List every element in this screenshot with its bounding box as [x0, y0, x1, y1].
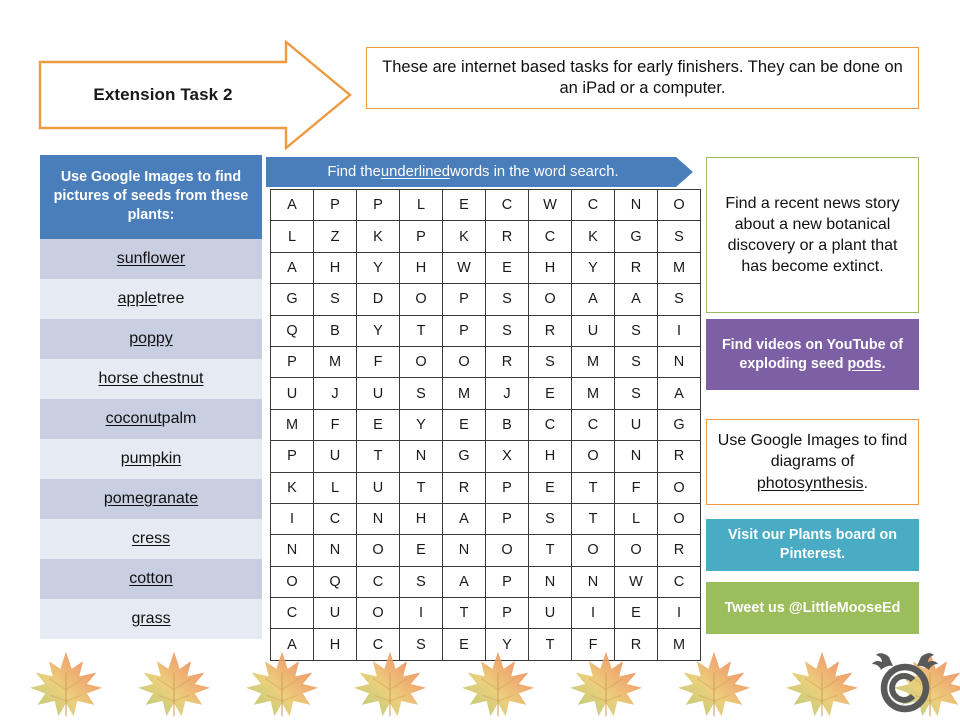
- wordsearch-cell[interactable]: R: [615, 252, 658, 283]
- wordsearch-cell[interactable]: Y: [357, 315, 400, 346]
- wordsearch-cell[interactable]: T: [400, 315, 443, 346]
- wordsearch-cell[interactable]: S: [486, 315, 529, 346]
- wordsearch-cell[interactable]: C: [314, 503, 357, 534]
- wordsearch-cell[interactable]: E: [400, 535, 443, 566]
- card-news-text: Find a recent news story about a new bot…: [715, 193, 910, 277]
- card-photosynthesis-underlined: photosynthesis: [757, 475, 864, 492]
- wordsearch-cell[interactable]: I: [271, 503, 314, 534]
- wordsearch-cell[interactable]: M: [572, 346, 615, 377]
- wordsearch-cell[interactable]: U: [271, 378, 314, 409]
- plant-name-plain: palm: [162, 410, 197, 428]
- wordsearch-cell[interactable]: O: [271, 566, 314, 597]
- page-title: Extension Task 2: [38, 40, 288, 150]
- maple-leaf-icon: [338, 648, 442, 720]
- wordsearch-cell[interactable]: R: [486, 221, 529, 252]
- wordsearch-cell[interactable]: O: [658, 472, 701, 503]
- plant-list-item[interactable]: cotton: [40, 559, 262, 599]
- wordsearch-cell[interactable]: N: [271, 535, 314, 566]
- card-youtube-suffix: .: [882, 356, 886, 372]
- wordsearch-cell[interactable]: M: [572, 378, 615, 409]
- wordsearch-cell[interactable]: N: [314, 535, 357, 566]
- slide-canvas: Extension Task 2 These are internet base…: [0, 0, 960, 720]
- wordsearch-cell[interactable]: S: [486, 284, 529, 315]
- wordsearch-cell[interactable]: K: [271, 472, 314, 503]
- wordsearch-cell[interactable]: M: [443, 378, 486, 409]
- plant-list-item[interactable]: coconut palm: [40, 399, 262, 439]
- wordsearch-cell[interactable]: Y: [400, 409, 443, 440]
- card-photosynthesis-prefix: Use Google Images to find diagrams of: [718, 432, 907, 470]
- wordsearch-cell[interactable]: U: [314, 441, 357, 472]
- wordsearch-cell[interactable]: I: [572, 598, 615, 629]
- wordsearch-cell[interactable]: O: [443, 346, 486, 377]
- wordsearch-cell[interactable]: Q: [271, 315, 314, 346]
- wordsearch-row: KLUTRPETFO: [271, 472, 701, 503]
- wordsearch-cell[interactable]: T: [572, 472, 615, 503]
- intro-text: These are internet based tasks for early…: [379, 57, 906, 100]
- plant-name-underlined: horse chestnut: [99, 370, 204, 388]
- wordsearch-grid[interactable]: APPLECWCNOLZKPKRCKGSAHYHWEHYRMGSDOPSOAAS…: [270, 189, 701, 661]
- wordsearch-cell[interactable]: U: [357, 472, 400, 503]
- plant-list-item[interactable]: sunflower: [40, 239, 262, 279]
- wordsearch-cell[interactable]: O: [572, 441, 615, 472]
- wordsearch-cell[interactable]: O: [658, 503, 701, 534]
- wordsearch-cell[interactable]: K: [572, 221, 615, 252]
- wordsearch-row: CUOITPUIEI: [271, 598, 701, 629]
- wordsearch-cell[interactable]: S: [658, 284, 701, 315]
- wordsearch-cell[interactable]: U: [572, 315, 615, 346]
- wordsearch-row: OQCSAPNNWC: [271, 566, 701, 597]
- maple-leaf-icon: [662, 648, 766, 720]
- wordsearch-cell[interactable]: W: [615, 566, 658, 597]
- wordsearch-cell[interactable]: H: [529, 441, 572, 472]
- wordsearch-row: PUTNGXHONR: [271, 441, 701, 472]
- plant-list-item[interactable]: apple tree: [40, 279, 262, 319]
- plant-list-item[interactable]: pomegranate: [40, 479, 262, 519]
- wordsearch-cell[interactable]: S: [658, 221, 701, 252]
- wordsearch-cell[interactable]: P: [486, 472, 529, 503]
- wordsearch-cell[interactable]: K: [357, 221, 400, 252]
- wordsearch-cell[interactable]: A: [443, 566, 486, 597]
- wordsearch-cell[interactable]: B: [486, 409, 529, 440]
- wordsearch-cell[interactable]: Q: [314, 566, 357, 597]
- plant-list-item[interactable]: poppy: [40, 319, 262, 359]
- wordsearch-cell[interactable]: R: [486, 346, 529, 377]
- wordsearch-cell[interactable]: O: [400, 346, 443, 377]
- wordsearch-row: APPLECWCNO: [271, 190, 701, 221]
- wordsearch-cell[interactable]: E: [529, 378, 572, 409]
- wordsearch-row: GSDOPSOAAS: [271, 284, 701, 315]
- wordsearch-cell[interactable]: W: [529, 190, 572, 221]
- wordsearch-cell[interactable]: N: [572, 566, 615, 597]
- wordsearch-cell[interactable]: P: [443, 315, 486, 346]
- wordsearch-cell[interactable]: J: [314, 378, 357, 409]
- wordsearch-cell[interactable]: R: [443, 472, 486, 503]
- plant-name-underlined: pomegranate: [104, 490, 198, 508]
- wordsearch-cell[interactable]: E: [443, 190, 486, 221]
- plant-name-underlined: coconut: [106, 410, 162, 428]
- maple-leaf-icon: [446, 648, 550, 720]
- wordsearch-cell[interactable]: P: [486, 566, 529, 597]
- maple-leaf-border: [0, 646, 960, 720]
- wordsearch-cell[interactable]: Y: [357, 252, 400, 283]
- wordsearch-cell[interactable]: T: [400, 472, 443, 503]
- wordsearch-cell[interactable]: H: [314, 252, 357, 283]
- plant-list-rows: sunflowerapple treepoppyhorse chestnutco…: [40, 239, 262, 639]
- wordsearch-heading-prefix: Find the: [327, 164, 380, 180]
- wordsearch-cell[interactable]: S: [529, 346, 572, 377]
- wordsearch-cell[interactable]: O: [357, 598, 400, 629]
- wordsearch-cell[interactable]: U: [357, 378, 400, 409]
- plant-name-underlined: grass: [131, 610, 170, 628]
- wordsearch-row: AHYHWEHYRM: [271, 252, 701, 283]
- wordsearch-cell[interactable]: A: [658, 378, 701, 409]
- wordsearch-cell[interactable]: N: [615, 441, 658, 472]
- wordsearch-cell[interactable]: N: [658, 346, 701, 377]
- wordsearch-cell[interactable]: S: [314, 284, 357, 315]
- plant-name-underlined: apple: [118, 290, 157, 308]
- wordsearch-row: NNOENOTOOR: [271, 535, 701, 566]
- wordsearch-row: LZKPKRCKGS: [271, 221, 701, 252]
- wordsearch-cell[interactable]: P: [271, 441, 314, 472]
- wordsearch-cell[interactable]: P: [271, 346, 314, 377]
- plant-name-underlined: sunflower: [117, 250, 185, 268]
- wordsearch-cell[interactable]: M: [271, 409, 314, 440]
- wordsearch-cell[interactable]: P: [443, 284, 486, 315]
- wordsearch-cell[interactable]: A: [443, 503, 486, 534]
- wordsearch-cell[interactable]: R: [529, 315, 572, 346]
- wordsearch-cell[interactable]: G: [443, 441, 486, 472]
- wordsearch-cell[interactable]: I: [658, 315, 701, 346]
- wordsearch-cell[interactable]: R: [658, 441, 701, 472]
- wordsearch-cell[interactable]: N: [357, 503, 400, 534]
- card-pinterest-text: Visit our Plants board on Pinterest.: [714, 526, 911, 564]
- plant-name-underlined: poppy: [129, 330, 173, 348]
- wordsearch-cell[interactable]: T: [572, 503, 615, 534]
- wordsearch-row: PMFOORSMSN: [271, 346, 701, 377]
- card-photosynthesis-suffix: .: [864, 475, 868, 492]
- wordsearch-cell[interactable]: P: [486, 503, 529, 534]
- wordsearch-heading-suffix: words in the word search.: [450, 164, 619, 180]
- wordsearch-cell[interactable]: L: [400, 190, 443, 221]
- card-youtube-videos[interactable]: Find videos on YouTube of exploding seed…: [706, 319, 919, 390]
- wordsearch-cell[interactable]: E: [529, 472, 572, 503]
- littlemoose-logo: [868, 651, 942, 713]
- card-twitter[interactable]: Tweet us @LittleMooseEd: [706, 582, 919, 634]
- wordsearch-cell[interactable]: L: [615, 503, 658, 534]
- wordsearch-cell[interactable]: P: [314, 190, 357, 221]
- maple-leaf-icon: [122, 648, 226, 720]
- plant-list-item[interactable]: grass: [40, 599, 262, 639]
- wordsearch-heading-underlined: underlined: [381, 164, 450, 180]
- wordsearch-heading-text: Find the underlined words in the word se…: [266, 157, 680, 187]
- card-twitter-text: Tweet us @LittleMooseEd: [725, 599, 901, 618]
- plant-list-panel: Use Google Images to find pictures of se…: [40, 155, 262, 639]
- wordsearch-cell[interactable]: S: [529, 503, 572, 534]
- wordsearch-cell[interactable]: L: [314, 472, 357, 503]
- wordsearch-cell[interactable]: C: [658, 566, 701, 597]
- wordsearch-cell[interactable]: U: [615, 409, 658, 440]
- wordsearch-cell[interactable]: O: [357, 535, 400, 566]
- plant-list-item[interactable]: pumpkin: [40, 439, 262, 479]
- plant-list-item[interactable]: horse chestnut: [40, 359, 262, 399]
- wordsearch-cell[interactable]: A: [572, 284, 615, 315]
- wordsearch-cell[interactable]: K: [443, 221, 486, 252]
- wordsearch-row: UJUSMJEMSA: [271, 378, 701, 409]
- wordsearch-cell[interactable]: G: [271, 284, 314, 315]
- wordsearch-cell[interactable]: U: [529, 598, 572, 629]
- wordsearch-cell[interactable]: E: [615, 598, 658, 629]
- wordsearch-cell[interactable]: M: [314, 346, 357, 377]
- wordsearch-cell[interactable]: N: [400, 441, 443, 472]
- wordsearch-cell[interactable]: Y: [572, 252, 615, 283]
- wordsearch-cell[interactable]: O: [486, 535, 529, 566]
- wordsearch-cell[interactable]: C: [529, 409, 572, 440]
- maple-leaf-icon: [14, 648, 118, 720]
- wordsearch-cell[interactable]: X: [486, 441, 529, 472]
- wordsearch-cell[interactable]: B: [314, 315, 357, 346]
- wordsearch-row: QBYTPSRUSI: [271, 315, 701, 346]
- wordsearch-cell[interactable]: O: [529, 284, 572, 315]
- card-photosynthesis-text: Use Google Images to find diagrams of ph…: [715, 430, 910, 493]
- plant-list-heading: Use Google Images to find pictures of se…: [40, 155, 262, 239]
- wordsearch-cell[interactable]: O: [400, 284, 443, 315]
- wordsearch-cell[interactable]: C: [271, 598, 314, 629]
- wordsearch-row: ICNHAPSTLO: [271, 503, 701, 534]
- wordsearch-cell[interactable]: N: [443, 535, 486, 566]
- plant-list-item[interactable]: cress: [40, 519, 262, 559]
- wordsearch-cell[interactable]: I: [400, 598, 443, 629]
- wordsearch-cell[interactable]: C: [572, 409, 615, 440]
- wordsearch-cell[interactable]: E: [357, 409, 400, 440]
- wordsearch-cell[interactable]: H: [400, 252, 443, 283]
- intro-callout: These are internet based tasks for early…: [366, 47, 919, 109]
- wordsearch-cell[interactable]: A: [615, 284, 658, 315]
- maple-leaf-icon: [770, 648, 874, 720]
- wordsearch-cell[interactable]: P: [486, 598, 529, 629]
- wordsearch-cell[interactable]: S: [615, 378, 658, 409]
- wordsearch-cell[interactable]: S: [400, 566, 443, 597]
- wordsearch-cell[interactable]: E: [486, 252, 529, 283]
- plant-name-plain: tree: [157, 290, 185, 308]
- wordsearch-cell[interactable]: S: [615, 315, 658, 346]
- wordsearch-cell[interactable]: G: [658, 409, 701, 440]
- wordsearch-cell[interactable]: S: [615, 346, 658, 377]
- wordsearch-cell[interactable]: L: [271, 221, 314, 252]
- wordsearch-cell[interactable]: S: [400, 378, 443, 409]
- extension-task-banner: Extension Task 2: [38, 40, 353, 150]
- wordsearch-cell[interactable]: H: [400, 503, 443, 534]
- card-pinterest[interactable]: Visit our Plants board on Pinterest.: [706, 519, 919, 571]
- card-photosynthesis[interactable]: Use Google Images to find diagrams of ph…: [706, 419, 919, 505]
- wordsearch-cell[interactable]: G: [615, 221, 658, 252]
- maple-leaf-icon: [230, 648, 334, 720]
- wordsearch-cell[interactable]: T: [443, 598, 486, 629]
- wordsearch-row: MFEYEBCCUG: [271, 409, 701, 440]
- wordsearch-cell[interactable]: Z: [314, 221, 357, 252]
- plant-name-underlined: cress: [132, 530, 170, 548]
- wordsearch-cell[interactable]: C: [357, 566, 400, 597]
- wordsearch-cell[interactable]: T: [357, 441, 400, 472]
- card-news-story[interactable]: Find a recent news story about a new bot…: [706, 157, 919, 313]
- wordsearch-cell[interactable]: E: [443, 409, 486, 440]
- wordsearch-cell[interactable]: W: [443, 252, 486, 283]
- wordsearch-cell[interactable]: O: [658, 190, 701, 221]
- wordsearch-cell[interactable]: U: [314, 598, 357, 629]
- wordsearch-cell[interactable]: O: [615, 535, 658, 566]
- wordsearch-cell[interactable]: I: [658, 598, 701, 629]
- wordsearch-cell[interactable]: P: [357, 190, 400, 221]
- wordsearch-cell[interactable]: N: [529, 566, 572, 597]
- card-youtube-text: Find videos on YouTube of exploding seed…: [714, 336, 911, 374]
- wordsearch-cell[interactable]: N: [615, 190, 658, 221]
- wordsearch-cell[interactable]: P: [400, 221, 443, 252]
- wordsearch-cell[interactable]: C: [529, 221, 572, 252]
- wordsearch-cell[interactable]: F: [314, 409, 357, 440]
- wordsearch-cell[interactable]: A: [271, 190, 314, 221]
- wordsearch-cell[interactable]: O: [572, 535, 615, 566]
- wordsearch-cell[interactable]: R: [658, 535, 701, 566]
- wordsearch-cell[interactable]: J: [486, 378, 529, 409]
- wordsearch-cell[interactable]: F: [615, 472, 658, 503]
- maple-leaf-icon: [554, 648, 658, 720]
- plant-name-underlined: pumpkin: [121, 450, 181, 468]
- wordsearch-cell[interactable]: C: [572, 190, 615, 221]
- wordsearch-cell[interactable]: C: [486, 190, 529, 221]
- wordsearch-cell[interactable]: A: [271, 252, 314, 283]
- plant-name-underlined: cotton: [129, 570, 173, 588]
- wordsearch-cell[interactable]: T: [529, 535, 572, 566]
- wordsearch-heading-banner: Find the underlined words in the word se…: [266, 157, 694, 187]
- wordsearch-cell[interactable]: F: [357, 346, 400, 377]
- wordsearch-cell[interactable]: D: [357, 284, 400, 315]
- card-youtube-underlined: pods: [847, 356, 881, 372]
- wordsearch-cell[interactable]: H: [529, 252, 572, 283]
- wordsearch-cell[interactable]: M: [658, 252, 701, 283]
